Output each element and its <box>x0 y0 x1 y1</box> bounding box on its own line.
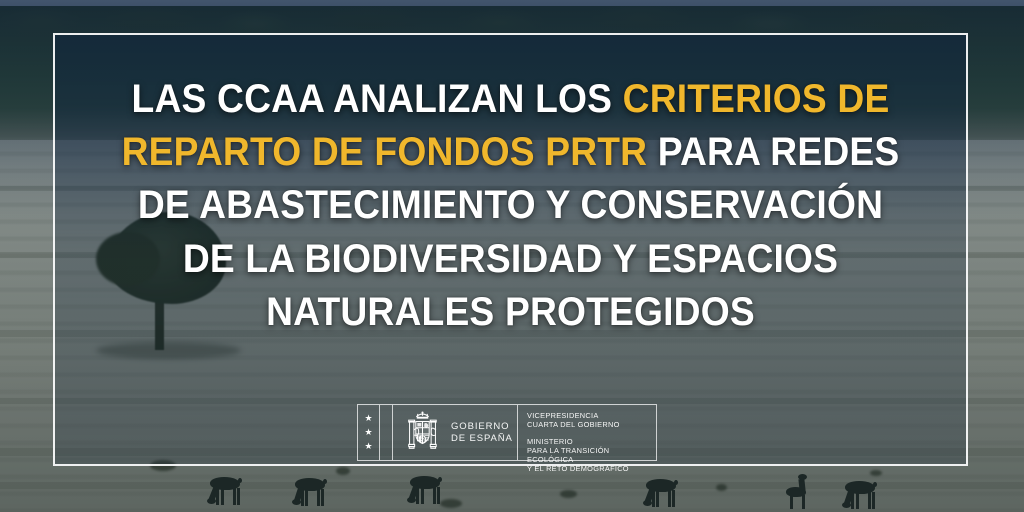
coat-of-arms-icon <box>399 410 446 456</box>
logo-vicepresidency-block: VICEPRESIDENCIA CUARTA DEL GOBIERNO <box>527 411 656 430</box>
star-icon: ★ <box>364 442 372 451</box>
logo-ministry-text: VICEPRESIDENCIA CUARTA DEL GOBIERNO MINI… <box>518 405 656 460</box>
headline-part-plain-1: LAS CCAA ANALIZAN LOS <box>132 77 623 121</box>
logo-crest-cell: GOBIERNO DE ESPAÑA <box>393 405 518 460</box>
logo-vicepresidency-line1: VICEPRESIDENCIA <box>527 411 656 420</box>
logo-stars-column: ★ ★ ★ <box>358 405 380 460</box>
logo-ministry-line2: PARA LA TRANSICIÓN ECOLÓGICA <box>527 446 656 465</box>
logo-ministry-line1: MINISTERIO <box>527 437 656 446</box>
logo-ministry-line3: Y EL RETO DEMOGRÁFICO <box>527 464 656 473</box>
logo-government-line2: DE ESPAÑA <box>451 433 513 445</box>
logo-government-text: GOBIERNO DE ESPAÑA <box>451 421 513 444</box>
logo-vicepresidency-line2: CUARTA DEL GOBIERNO <box>527 420 656 429</box>
headline: LAS CCAA ANALIZAN LOS CRITERIOS DE REPAR… <box>85 33 936 339</box>
logo-divider-gap <box>380 405 393 460</box>
government-logo: ★ ★ ★ <box>357 404 657 461</box>
star-icon: ★ <box>364 414 372 423</box>
logo-ministry-block: MINISTERIO PARA LA TRANSICIÓN ECOLÓGICA … <box>527 437 656 474</box>
star-icon: ★ <box>364 428 372 437</box>
logo-government-line1: GOBIERNO <box>451 421 513 433</box>
